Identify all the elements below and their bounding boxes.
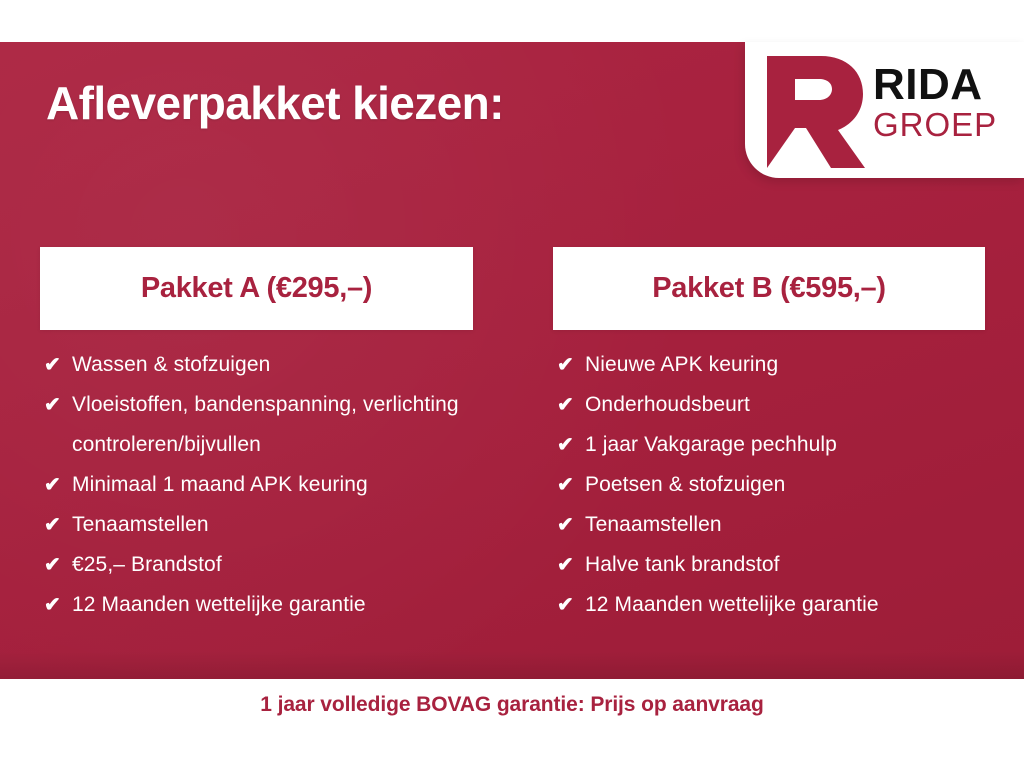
feature-label: Wassen & stofzuigen [72, 345, 473, 385]
check-icon: ✔ [40, 345, 72, 385]
feature-label: Vloeistoffen, bandenspanning, verlichtin… [72, 385, 473, 465]
list-item: ✔ 1 jaar Vakgarage pechhulp [553, 425, 985, 465]
check-icon: ✔ [40, 385, 72, 425]
feature-label: 12 Maanden wettelijke garantie [585, 585, 985, 625]
package-b-header: Pakket B (€595,–) [553, 247, 985, 330]
package-column-a: Pakket A (€295,–) ✔ Wassen & stofzuigen … [40, 247, 473, 625]
feature-label: €25,– Brandstof [72, 545, 473, 585]
footer-banner: 1 jaar volledige BOVAG garantie: Prijs o… [0, 679, 1024, 768]
logo-wordmark: RIDA GROEP [873, 64, 997, 143]
logo-panel: RIDA GROEP [745, 42, 1024, 178]
list-item: ✔ 12 Maanden wettelijke garantie [40, 585, 473, 625]
feature-label: Nieuwe APK keuring [585, 345, 985, 385]
check-icon: ✔ [553, 505, 585, 545]
logo-brand-sub: GROEP [873, 108, 997, 143]
check-icon: ✔ [553, 385, 585, 425]
list-item: ✔ Poetsen & stofzuigen [553, 465, 985, 505]
logo-brand-name: RIDA [873, 64, 997, 106]
package-b-feature-list: ✔ Nieuwe APK keuring ✔ Onderhoudsbeurt ✔… [553, 345, 985, 625]
feature-label: Halve tank brandstof [585, 545, 985, 585]
package-a-feature-list: ✔ Wassen & stofzuigen ✔ Vloeistoffen, ba… [40, 345, 473, 625]
check-icon: ✔ [553, 545, 585, 585]
package-a-title: Pakket A (€295,–) [141, 272, 372, 305]
check-icon: ✔ [40, 505, 72, 545]
feature-label: 12 Maanden wettelijke garantie [72, 585, 473, 625]
promo-slide: Afleverpakket kiezen: RIDA GROEP Pakket … [0, 0, 1024, 768]
check-icon: ✔ [553, 585, 585, 625]
list-item: ✔ 12 Maanden wettelijke garantie [553, 585, 985, 625]
package-column-b: Pakket B (€595,–) ✔ Nieuwe APK keuring ✔… [553, 247, 985, 625]
list-item: ✔ Minimaal 1 maand APK keuring [40, 465, 473, 505]
feature-label: Tenaamstellen [585, 505, 985, 545]
feature-label: Onderhoudsbeurt [585, 385, 985, 425]
check-icon: ✔ [40, 465, 72, 505]
list-item: ✔ Wassen & stofzuigen [40, 345, 473, 385]
feature-label: Poetsen & stofzuigen [585, 465, 985, 505]
rida-r-mark-icon [759, 50, 869, 172]
list-item: ✔ Onderhoudsbeurt [553, 385, 985, 425]
footer-text: 1 jaar volledige BOVAG garantie: Prijs o… [260, 693, 763, 717]
check-icon: ✔ [553, 425, 585, 465]
package-b-title: Pakket B (€595,–) [652, 272, 886, 305]
list-item: ✔ Vloeistoffen, bandenspanning, verlicht… [40, 385, 473, 465]
list-item: ✔ Tenaamstellen [40, 505, 473, 545]
check-icon: ✔ [553, 345, 585, 385]
list-item: ✔ Tenaamstellen [553, 505, 985, 545]
page-title: Afleverpakket kiezen: [46, 76, 504, 130]
check-icon: ✔ [40, 545, 72, 585]
check-icon: ✔ [553, 465, 585, 505]
list-item: ✔ Nieuwe APK keuring [553, 345, 985, 385]
feature-label: 1 jaar Vakgarage pechhulp [585, 425, 985, 465]
list-item: ✔ €25,– Brandstof [40, 545, 473, 585]
check-icon: ✔ [40, 585, 72, 625]
feature-label: Minimaal 1 maand APK keuring [72, 465, 473, 505]
package-a-header: Pakket A (€295,–) [40, 247, 473, 330]
list-item: ✔ Halve tank brandstof [553, 545, 985, 585]
feature-label: Tenaamstellen [72, 505, 473, 545]
